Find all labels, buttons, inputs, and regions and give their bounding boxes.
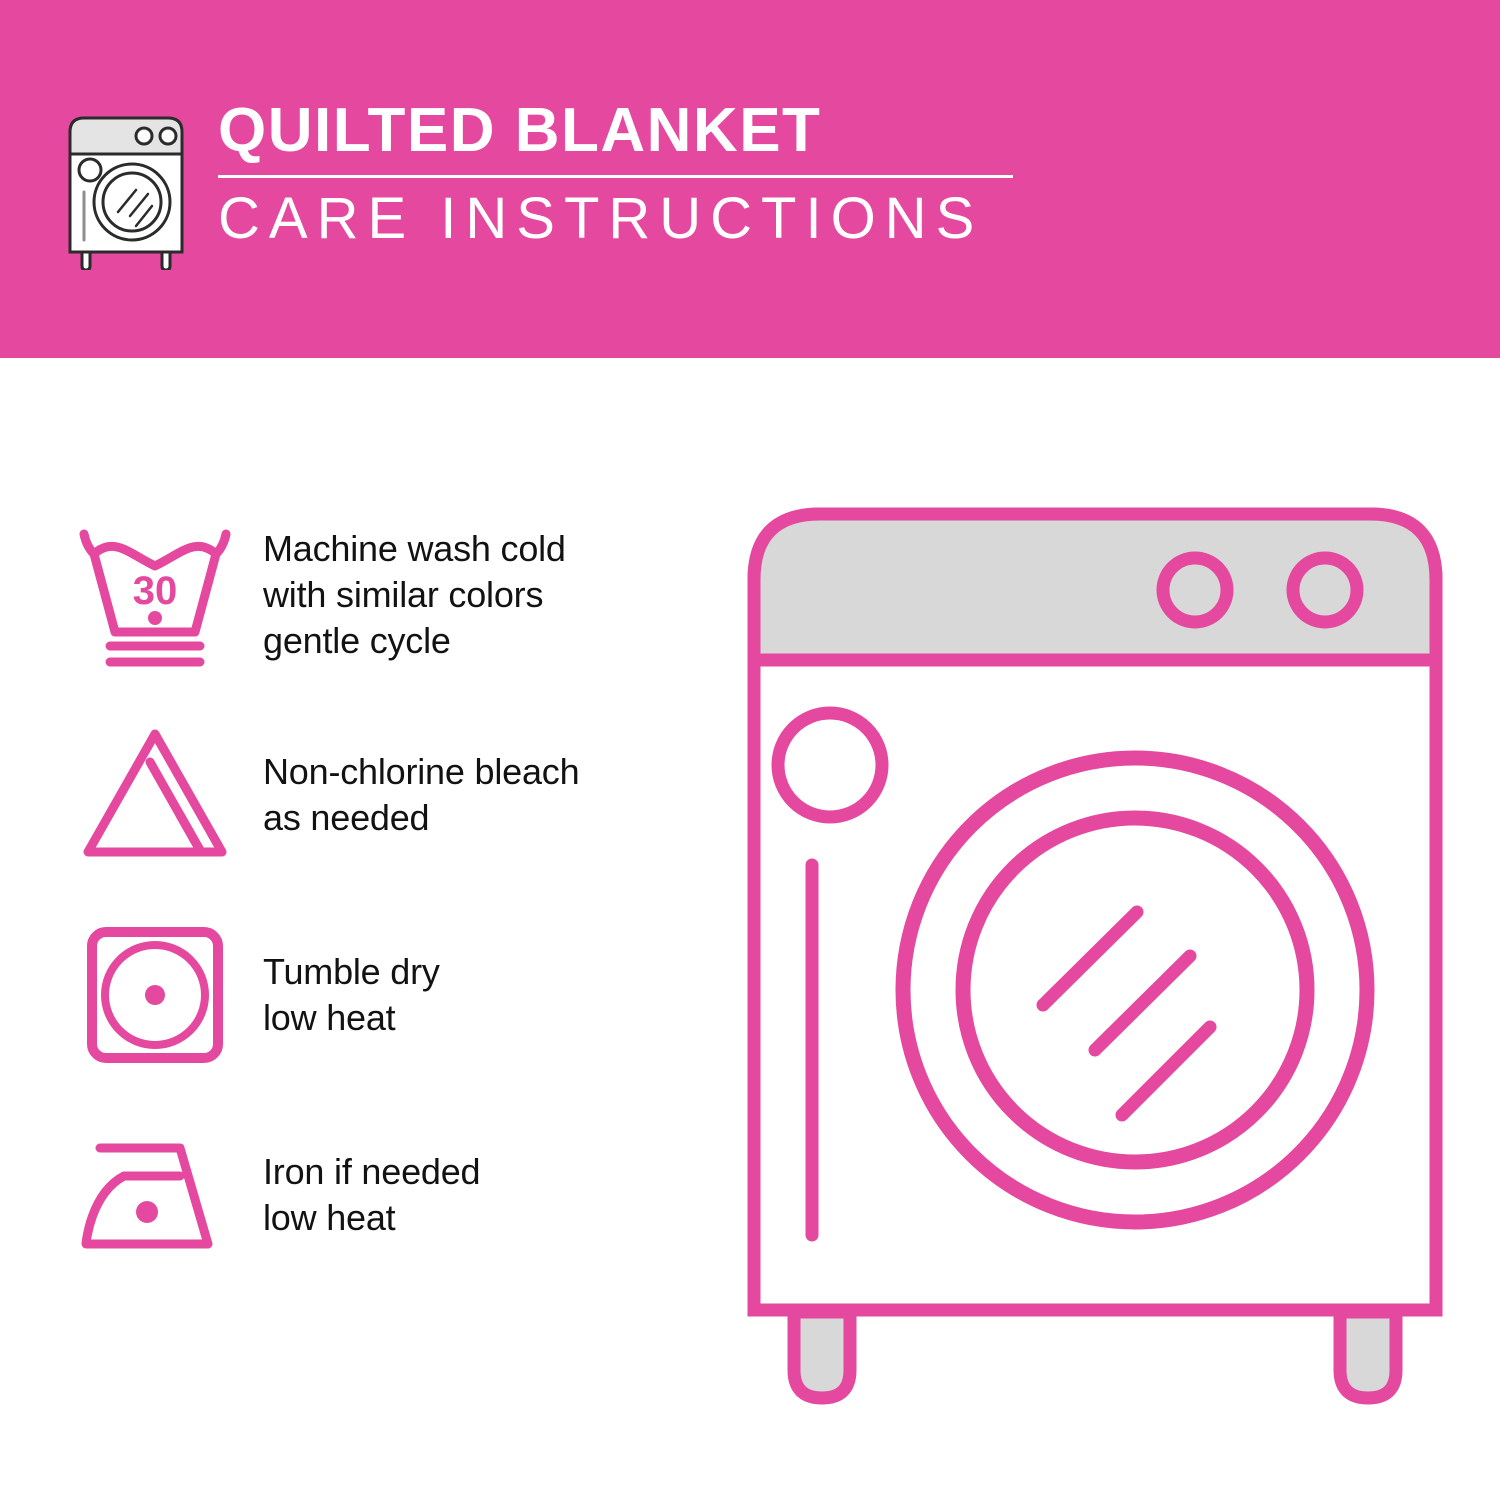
- tumble-dry-low-icon: [70, 920, 240, 1070]
- wash-tub-30-gentle-icon: 30: [70, 520, 240, 670]
- washing-machine-graphic: [740, 490, 1450, 1420]
- care-label: Tumble dry low heat: [263, 949, 440, 1041]
- care-symbol-slot: [70, 715, 245, 875]
- care-symbol-slot: 30: [70, 515, 245, 675]
- knob-icon[interactable]: [1293, 558, 1357, 622]
- care-symbol-slot: [70, 1115, 245, 1275]
- care-label: Non-chlorine bleach as needed: [263, 749, 579, 841]
- page-title: QUILTED BLANKET: [218, 100, 1013, 166]
- knob-icon[interactable]: [1163, 558, 1227, 622]
- care-row: Tumble dry low heat: [70, 895, 710, 1095]
- care-label: Machine wash cold with similar colors ge…: [263, 526, 566, 664]
- care-label: Iron if needed low heat: [263, 1149, 480, 1241]
- large-washing-machine-illustration: [740, 490, 1450, 1420]
- header-content: QUILTED BLANKET CARE INSTRUCTIONS: [62, 100, 1013, 270]
- header-banner: QUILTED BLANKET CARE INSTRUCTIONS: [0, 0, 1500, 358]
- care-instruction-list: 30 Machine wash cold with similar colors…: [70, 495, 710, 1295]
- title-divider: [218, 175, 1013, 178]
- care-row: Non-chlorine bleach as needed: [70, 695, 710, 895]
- iron-low-heat-icon: [70, 1120, 240, 1270]
- machine-leg: [1340, 1312, 1396, 1398]
- washing-machine-icon: [62, 110, 190, 270]
- page-subtitle: CARE INSTRUCTIONS: [218, 190, 1013, 248]
- care-row: Iron if needed low heat: [70, 1095, 710, 1295]
- care-symbol-slot: [70, 915, 245, 1075]
- wash-temperature-value: 30: [133, 569, 178, 613]
- care-row: 30 Machine wash cold with similar colors…: [70, 495, 710, 695]
- header-titles: QUILTED BLANKET CARE INSTRUCTIONS: [218, 100, 1013, 248]
- non-chlorine-bleach-triangle-icon: [70, 720, 240, 870]
- machine-leg: [794, 1312, 850, 1398]
